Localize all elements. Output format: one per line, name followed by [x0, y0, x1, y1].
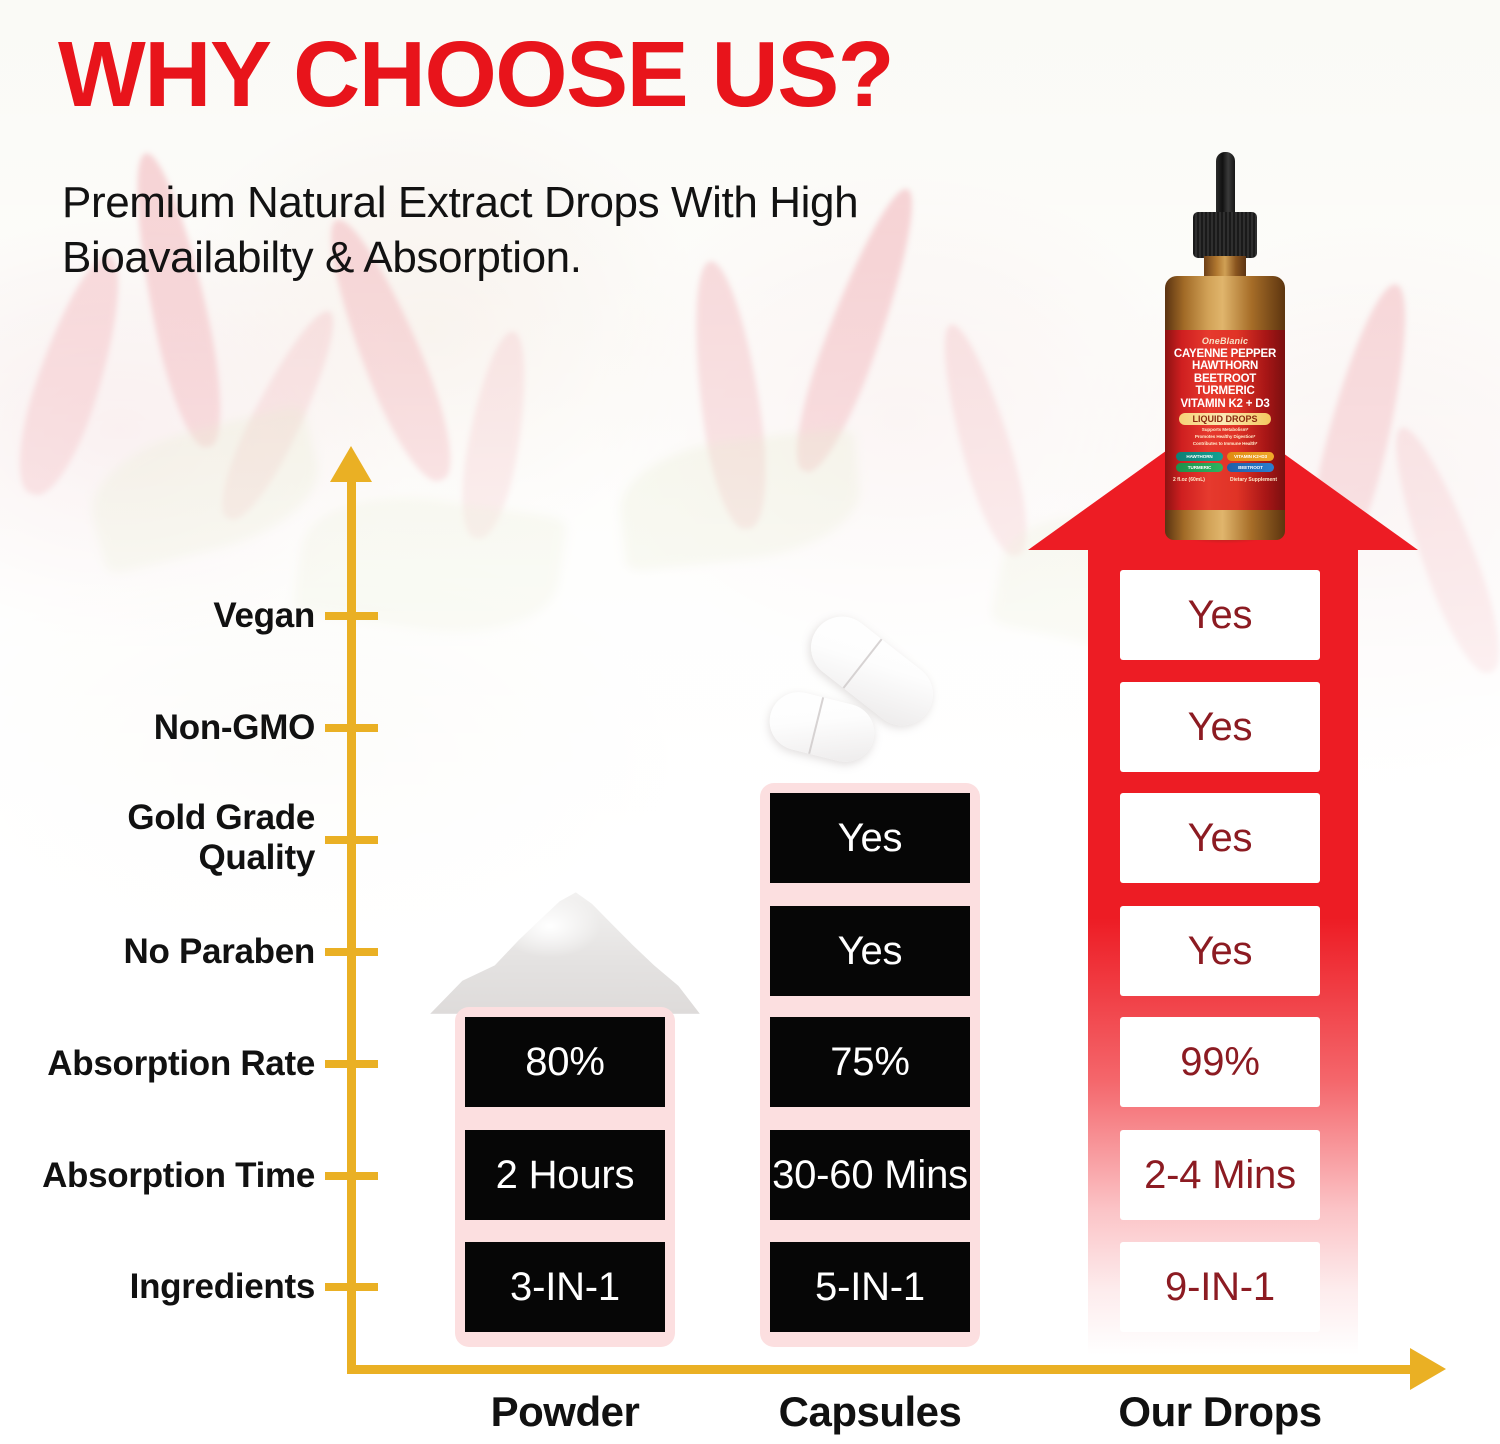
capsule-seam: [843, 639, 883, 689]
cell-powder-absorption-time: 2 Hours: [465, 1130, 665, 1220]
label-footer: 2 fl.oz (60mL) Dietary Supplement: [1173, 477, 1277, 483]
cell-ourdrops-gold-grade: Yes: [1120, 793, 1320, 883]
cell-capsules-no-paraben: Yes: [770, 906, 970, 996]
row-label-non-gmo: Non-GMO: [154, 708, 315, 748]
cell-powder-ingredients: 3-IN-1: [465, 1242, 665, 1332]
bottle-cap: [1193, 212, 1257, 258]
cell-powder-absorption-rate: 80%: [465, 1017, 665, 1107]
cell-ourdrops-non-gmo: Yes: [1120, 682, 1320, 772]
row-label-ingredients: Ingredients: [130, 1267, 315, 1307]
badge-hawthorn: HAWTHORN: [1176, 452, 1223, 461]
badge-turmeric: TURMERIC: [1176, 463, 1223, 472]
x-axis-arrowhead-icon: [1410, 1348, 1446, 1390]
badge-vitamin-k2-d3: VITAMIN K2+D3: [1227, 452, 1274, 461]
ingredient-badge-group: HAWTHORN VITAMIN K2+D3 TURMERIC BEETROOT: [1176, 452, 1274, 472]
ingredient-line-4: TURMERIC: [1170, 385, 1280, 397]
cell-ourdrops-no-paraben: Yes: [1120, 906, 1320, 996]
brand-name: OneBlanic: [1170, 336, 1280, 346]
row-label-no-paraben: No Paraben: [124, 932, 316, 972]
supplement-category: Dietary Supplement: [1230, 477, 1277, 483]
row-label-gold-grade: Gold Grade Quality: [127, 798, 315, 878]
x-axis-line: [347, 1365, 1420, 1374]
ingredient-line-5: VITAMIN K2 + D3: [1170, 398, 1280, 410]
x-label-powder: Powder: [435, 1388, 695, 1436]
page-title: WHY CHOOSE US?: [58, 26, 893, 124]
y-axis-tick-no-paraben: [325, 948, 378, 956]
badge-beetroot: BEETROOT: [1227, 463, 1274, 472]
infographic-canvas: WHY CHOOSE US? Premium Natural Extract D…: [0, 0, 1500, 1444]
bottle-label: OneBlanic CAYENNE PEPPER HAWTHORN BEETRO…: [1165, 330, 1285, 510]
cell-ourdrops-absorption-rate: 99%: [1120, 1017, 1320, 1107]
bottle-body: OneBlanic CAYENNE PEPPER HAWTHORN BEETRO…: [1165, 276, 1285, 540]
cell-capsules-absorption-time: 30-60 Mins: [770, 1130, 970, 1220]
y-axis-tick-gold-grade: [325, 836, 378, 844]
row-label-absorption-time: Absorption Time: [42, 1156, 315, 1196]
product-form-badge: LIQUID DROPS: [1179, 413, 1271, 425]
capsule-seam: [808, 697, 824, 754]
cell-ourdrops-absorption-time: 2-4 Mins: [1120, 1130, 1320, 1220]
y-axis-tick-vegan: [325, 612, 378, 620]
claim-1: Supports Metabolism*: [1170, 427, 1280, 434]
cell-capsules-ingredients: 5-IN-1: [770, 1242, 970, 1332]
claim-2: Promotes Healthy Digestion*: [1170, 434, 1280, 441]
y-axis-tick-absorption-time: [325, 1172, 378, 1180]
page-subtitle: Premium Natural Extract Drops With High …: [62, 175, 962, 286]
capsules-product-image: [765, 638, 945, 768]
ingredient-line-2: HAWTHORN: [1170, 360, 1280, 372]
x-label-our-drops: Our Drops: [1090, 1388, 1350, 1436]
y-axis-tick-ingredients: [325, 1283, 378, 1291]
ingredient-line-3: BEETROOT: [1170, 373, 1280, 385]
x-label-capsules: Capsules: [740, 1388, 1000, 1436]
row-label-vegan: Vegan: [213, 596, 315, 636]
dropper-bulb-icon: [1216, 152, 1235, 218]
row-label-absorption-rate: Absorption Rate: [47, 1044, 315, 1084]
ingredient-line-1: CAYENNE PEPPER: [1170, 348, 1280, 360]
powder-product-image: [430, 872, 700, 1014]
cell-ourdrops-ingredients: 9-IN-1: [1120, 1242, 1320, 1332]
y-axis-tick-absorption-rate: [325, 1060, 378, 1068]
cell-capsules-gold-grade: Yes: [770, 793, 970, 883]
product-bottle-image: OneBlanic CAYENNE PEPPER HAWTHORN BEETRO…: [1157, 152, 1293, 540]
claim-3: Contributes to Immune Health*: [1170, 441, 1280, 448]
cell-ourdrops-vegan: Yes: [1120, 570, 1320, 660]
cell-capsules-absorption-rate: 75%: [770, 1017, 970, 1107]
y-axis-tick-non-gmo: [325, 724, 378, 732]
net-volume: 2 fl.oz (60mL): [1173, 477, 1205, 483]
powder-mound: [430, 886, 700, 1014]
y-axis-line: [347, 455, 356, 1370]
